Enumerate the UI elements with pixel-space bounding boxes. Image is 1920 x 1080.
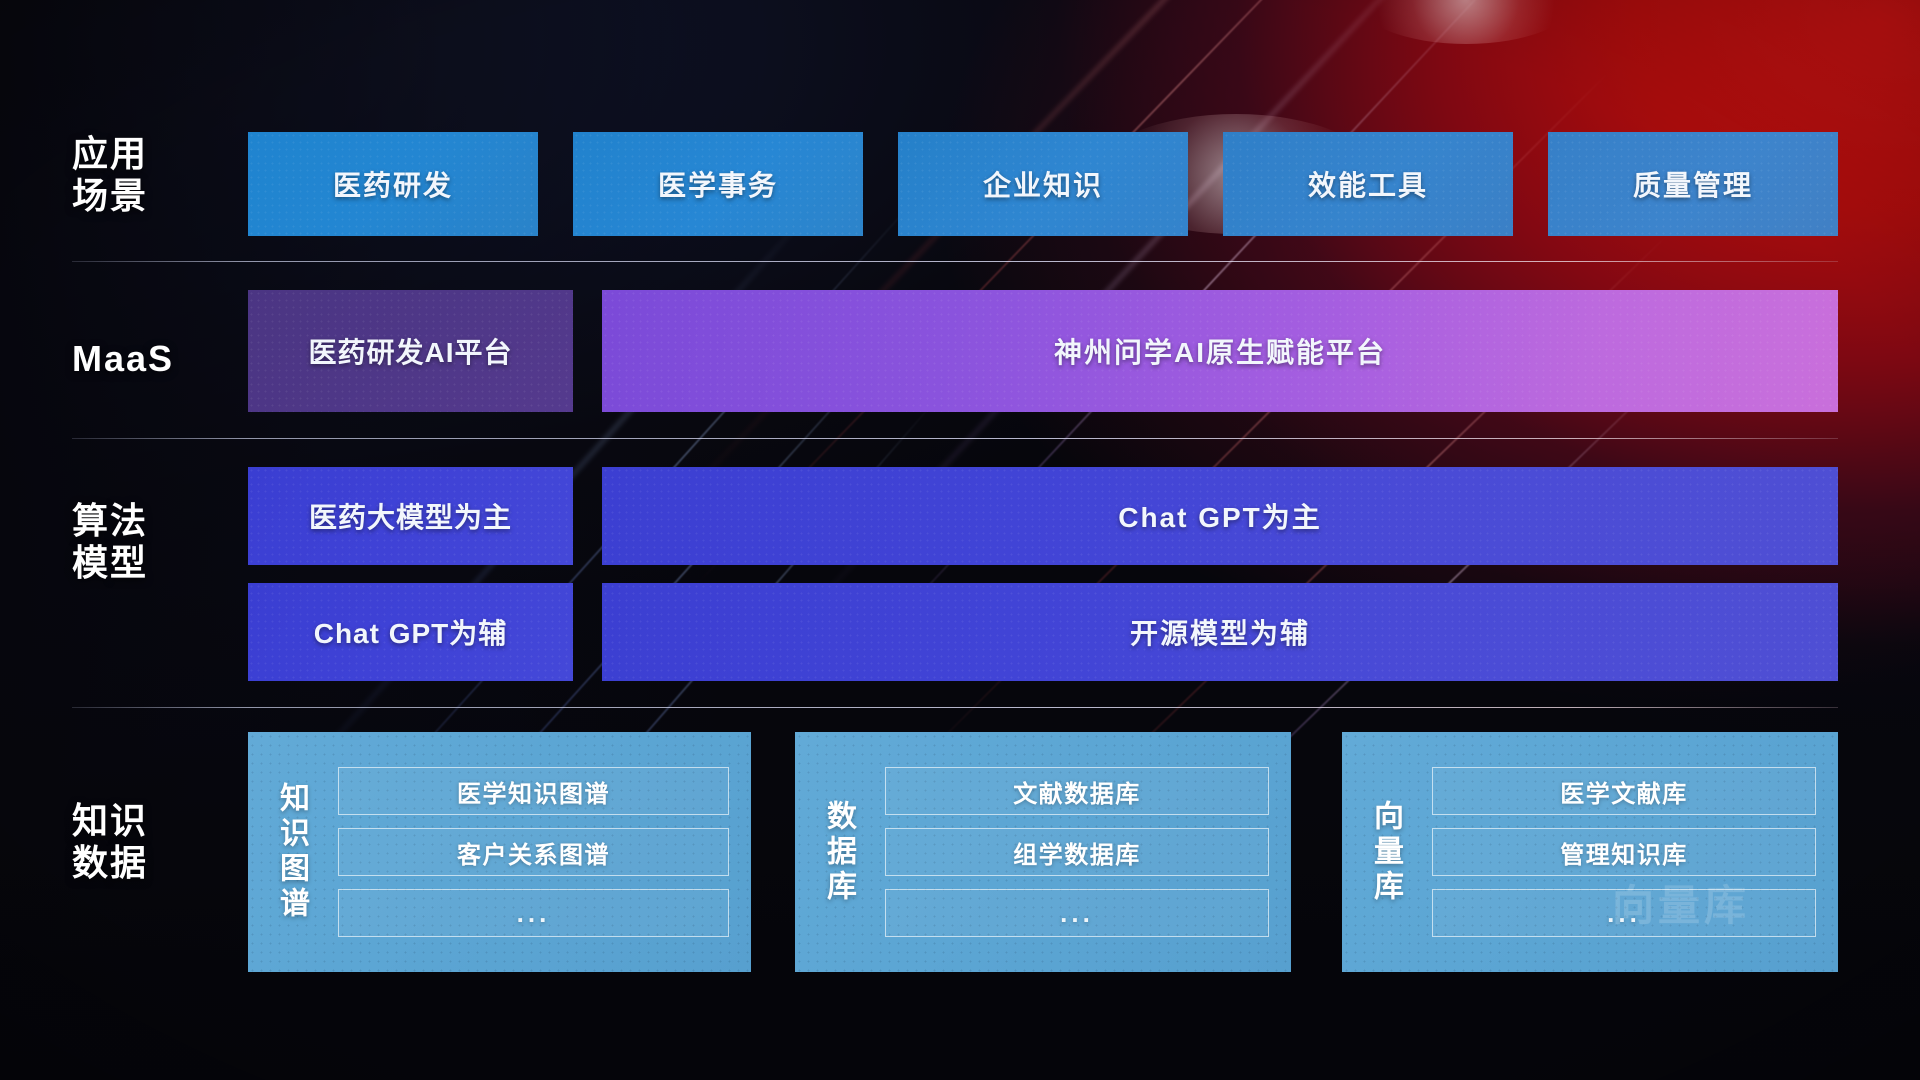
scene-box-label: 质量管理 (1633, 164, 1753, 204)
divider-1 (72, 261, 1838, 262)
row-label-algorithm-model: 算法 模型 (72, 500, 200, 585)
knowledge-item-label: ... (517, 898, 551, 929)
knowledge-panel-items: 文献数据库 组学数据库 ... (881, 732, 1291, 972)
scene-box-label: 企业知识 (983, 164, 1103, 204)
algo-box-chatgpt-primary[interactable]: Chat GPT为主 (602, 467, 1838, 565)
knowledge-item[interactable]: 组学数据库 (885, 828, 1269, 876)
maas-box-shenzhou-wenxue-platform[interactable]: 神州问学AI原生赋能平台 (602, 290, 1838, 412)
algo-box-label: 医药大模型为主 (309, 496, 512, 536)
maas-box-pharma-ai-platform[interactable]: 医药研发AI平台 (248, 290, 573, 412)
divider-3 (72, 707, 1838, 708)
knowledge-panel-label: 向量库 (1342, 732, 1428, 972)
knowledge-panel-database[interactable]: 数据库 文献数据库 组学数据库 ... (795, 732, 1291, 972)
scene-box-label: 效能工具 (1308, 164, 1428, 204)
scene-box-medical-affairs[interactable]: 医学事务 (573, 132, 863, 236)
knowledge-item-more[interactable]: ... (338, 889, 729, 937)
knowledge-item-more[interactable]: ... (885, 889, 1269, 937)
algo-box-chatgpt-secondary[interactable]: Chat GPT为辅 (248, 583, 573, 681)
knowledge-panel-knowledge-graph[interactable]: 知识图谱 医学知识图谱 客户关系图谱 ... (248, 732, 751, 972)
knowledge-item-more[interactable]: ... (1432, 889, 1816, 937)
knowledge-panel-items: 医学文献库 管理知识库 ... (1428, 732, 1838, 972)
knowledge-panel-vector-store[interactable]: 向量库 医学文献库 管理知识库 ... 向量库 (1342, 732, 1838, 972)
knowledge-item-label: ... (1607, 898, 1641, 929)
scene-box-label: 医药研发 (333, 164, 453, 204)
divider-2 (72, 438, 1838, 439)
knowledge-item-label: 文献数据库 (1013, 774, 1141, 809)
knowledge-item-label: 管理知识库 (1560, 835, 1688, 870)
row-label-line-1: 应用 (72, 133, 200, 175)
row-label-line-1: 算法 (72, 500, 200, 542)
knowledge-item[interactable]: 文献数据库 (885, 767, 1269, 815)
knowledge-item[interactable]: 医学知识图谱 (338, 767, 729, 815)
knowledge-item[interactable]: 管理知识库 (1432, 828, 1816, 876)
row-label-line-2: 模型 (72, 542, 200, 584)
knowledge-item-label: 医学知识图谱 (457, 774, 610, 809)
knowledge-item-label: 组学数据库 (1013, 835, 1141, 870)
algo-box-label: Chat GPT为辅 (314, 612, 508, 652)
algo-box-opensource-secondary[interactable]: 开源模型为辅 (602, 583, 1838, 681)
scene-box-enterprise-knowledge[interactable]: 企业知识 (898, 132, 1188, 236)
row-label-line-1: 知识 (72, 800, 200, 842)
scene-box-pharma-rd[interactable]: 医药研发 (248, 132, 538, 236)
row-label-knowledge-data: 知识 数据 (72, 800, 200, 885)
architecture-diagram: 应用 场景 医药研发 医学事务 企业知识 效能工具 质量管理 MaaS 医药研发… (0, 0, 1920, 1080)
algo-box-label: Chat GPT为主 (1118, 496, 1322, 536)
knowledge-item[interactable]: 医学文献库 (1432, 767, 1816, 815)
knowledge-panel-label: 知识图谱 (248, 732, 334, 972)
maas-box-label: 神州问学AI原生赋能平台 (1054, 331, 1386, 371)
scene-box-quality-management[interactable]: 质量管理 (1548, 132, 1838, 236)
knowledge-panel-items: 医学知识图谱 客户关系图谱 ... (334, 732, 751, 972)
row-label-application-scenarios: 应用 场景 (72, 133, 200, 218)
knowledge-panel-label: 数据库 (795, 732, 881, 972)
row-label-line-2: 场景 (72, 175, 200, 217)
knowledge-item-label: ... (1060, 898, 1094, 929)
row-label-maas: MaaS (72, 338, 200, 380)
row-label-line-2: 数据 (72, 842, 200, 884)
knowledge-item-label: 医学文献库 (1560, 774, 1688, 809)
scene-box-efficiency-tools[interactable]: 效能工具 (1223, 132, 1513, 236)
maas-box-label: 医药研发AI平台 (308, 331, 512, 371)
algo-box-label: 开源模型为辅 (1130, 612, 1310, 652)
algo-box-pharma-llm-primary[interactable]: 医药大模型为主 (248, 467, 573, 565)
row-label-line-1: MaaS (72, 338, 200, 380)
knowledge-item[interactable]: 客户关系图谱 (338, 828, 729, 876)
scene-box-label: 医学事务 (658, 164, 778, 204)
knowledge-item-label: 客户关系图谱 (457, 835, 610, 870)
